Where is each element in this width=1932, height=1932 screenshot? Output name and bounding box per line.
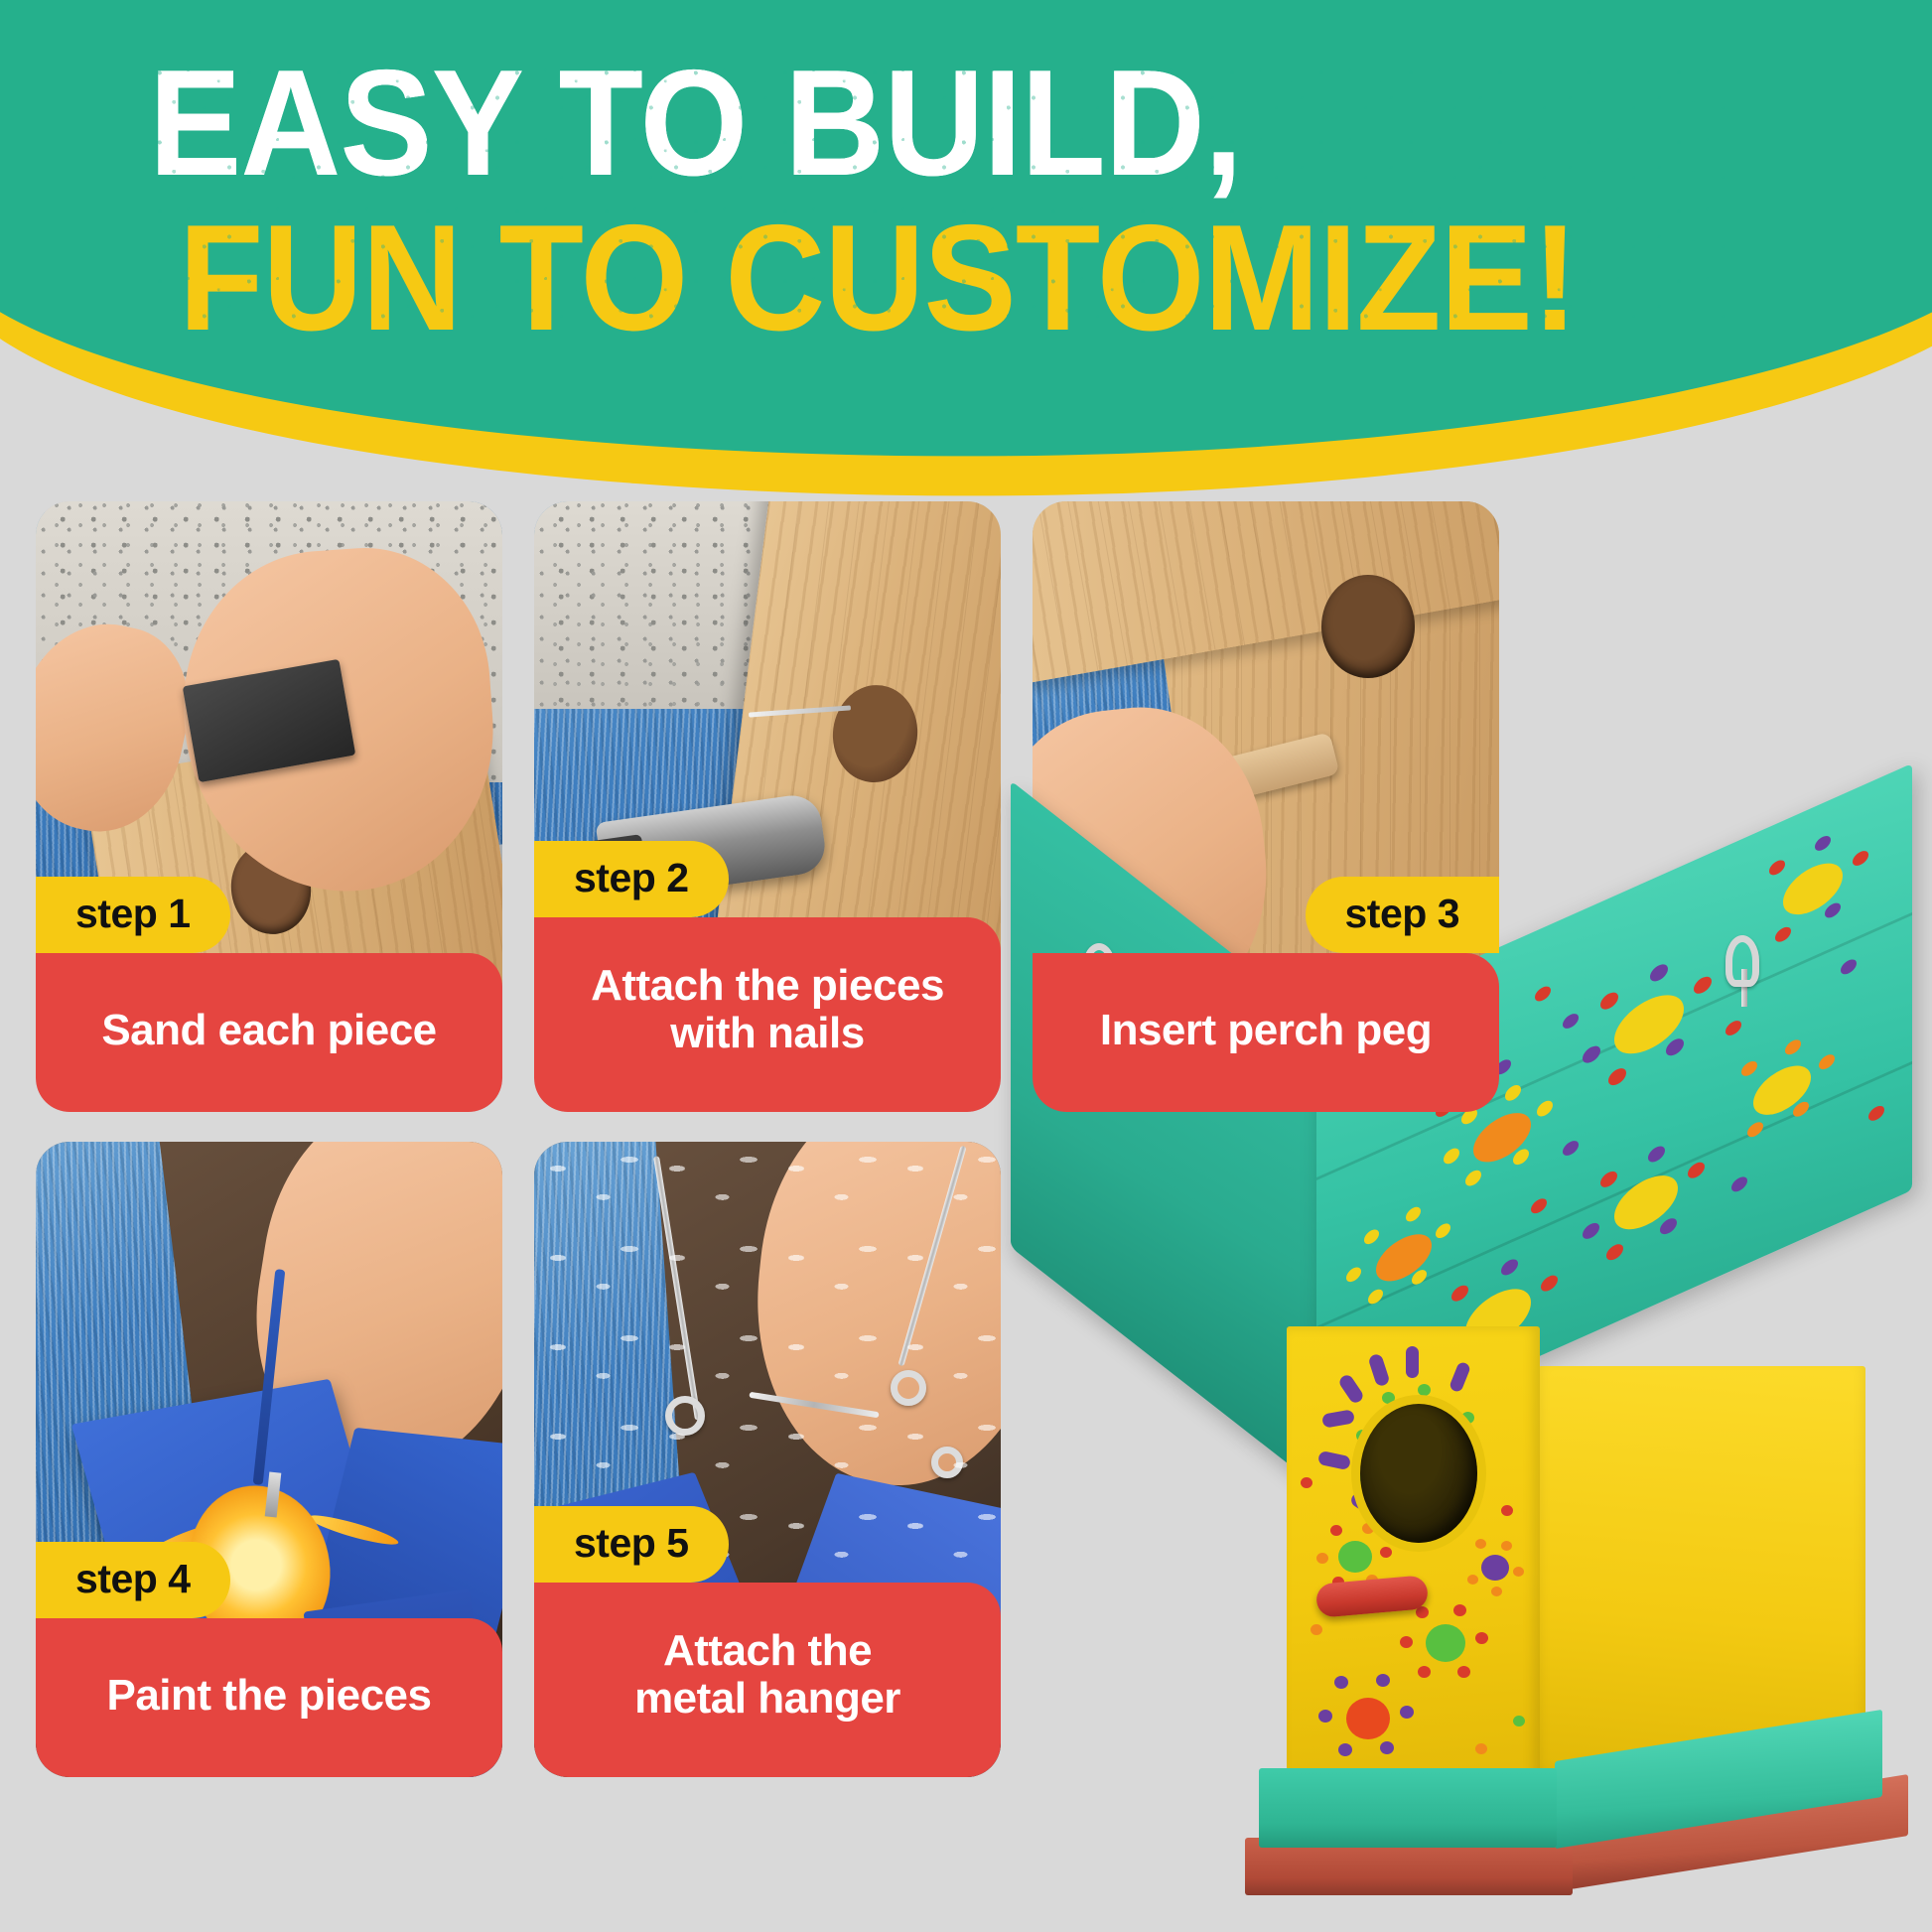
step-badge-1: step 1 [36,877,230,953]
step-caption-bar-3: Insert perch peg [1033,953,1499,1112]
dot-petal [1338,1743,1352,1756]
dot-petal [1747,1120,1763,1140]
dot-petal [1475,1539,1486,1549]
dot-petal [1380,1741,1394,1754]
dot-petal [1436,1221,1450,1241]
dot-petal [1600,1169,1617,1190]
dot-petal [1400,1706,1414,1719]
dot-petal [1362,1523,1374,1534]
dot-petal [1376,1674,1390,1687]
headline-line-2: FUN TO CUSTOMIZE! [179,212,1612,345]
dot-petal [1785,1037,1801,1057]
header-banner: EASY TO BUILD, FUN TO CUSTOMIZE! [0,0,1932,516]
sunburst-ray [1337,1373,1365,1406]
dot-petal [1606,1241,1623,1263]
step-badge-3: step 3 [1306,877,1500,953]
dot-petal [1334,1676,1348,1689]
dot-petal [1666,1035,1684,1058]
dot-petal [1853,848,1868,868]
dot-petal [1364,1227,1379,1247]
dot-petal [1537,1098,1553,1119]
dot-petal [1501,1257,1518,1279]
dot-petal [1444,1146,1459,1167]
hanging-hook-right-icon [1725,935,1759,987]
dot-petal [1513,1567,1524,1577]
scatter-dot [1501,1505,1513,1516]
headline-block: EASY TO BUILD, FUN TO CUSTOMIZE! [149,58,1737,345]
step-card-1[interactable]: Sand each piece step 1 [36,501,502,1112]
scatter-dot [1868,1103,1884,1123]
scatter-dot [1311,1624,1322,1635]
birdhouse-entry-hole [1360,1404,1477,1543]
scatter-dot [1563,1011,1579,1031]
dot-petal [1600,990,1618,1013]
dot-petal [1400,1636,1413,1648]
step-caption-bar-2: Attach the pieces with nails [534,917,1001,1112]
dot-petal [1418,1384,1431,1396]
dot-petal [1583,1220,1599,1242]
scatter-dot [1731,1174,1747,1194]
step-caption-bar-4: Paint the pieces [36,1618,502,1777]
dot-petal [1825,900,1841,920]
dot-petal [1583,1043,1600,1066]
dot-flower-center [1426,1624,1465,1662]
step-caption-1: Sand each piece [101,1007,436,1054]
step-badge-5: step 5 [534,1506,729,1583]
dot-petal [1741,1058,1757,1078]
dot-petal [1406,1204,1421,1224]
dot-flower-center [1346,1698,1390,1739]
scatter-dot [1475,1743,1487,1754]
dot-petal [1648,1144,1665,1166]
dot-petal [1475,1632,1488,1644]
step-card-2[interactable]: Attach the pieces with nails step 2 [534,501,1001,1112]
step-caption-2: Attach the pieces with nails [591,962,944,1056]
step-badge-2: step 2 [534,841,729,917]
dot-petal [1694,974,1712,997]
dot-petal [1501,1541,1512,1551]
sunburst-ray [1449,1361,1471,1394]
sunburst-ray [1406,1346,1419,1378]
dot-petal [1467,1575,1478,1585]
infographic-poster: EASY TO BUILD, FUN TO CUSTOMIZE! [0,0,1932,1932]
scatter-dot [1563,1138,1579,1158]
headline-line-1: EASY TO BUILD, [149,58,1610,191]
scatter-dot [1535,984,1551,1004]
step-badge-4: step 4 [36,1542,230,1618]
step-card-5[interactable]: Attach the metal hanger step 5 [534,1142,1001,1777]
dot-petal [1660,1215,1677,1237]
dot-petal [1318,1710,1332,1723]
dot-petal [1368,1287,1383,1307]
dot-petal [1382,1392,1395,1404]
dot-flower-center [1338,1541,1372,1573]
sunburst-ray [1321,1409,1355,1428]
step-card-3[interactable]: Insert perch peg step 3 [1033,501,1499,1112]
dot-petal [1451,1283,1468,1305]
dot-petal [1491,1587,1502,1596]
scatter-dot [1513,1716,1525,1726]
birdhouse-ledge-front [1259,1768,1557,1848]
dot-petal [1461,1412,1474,1424]
dot-petal [1541,1273,1558,1295]
dot-petal [1465,1168,1481,1188]
dot-petal [1330,1525,1342,1536]
dot-petal [1316,1553,1328,1564]
dot-flower-center [1481,1555,1509,1581]
dot-petal [1608,1065,1626,1088]
sunburst-ray [1317,1450,1351,1470]
dot-petal [1650,961,1668,984]
dot-petal [1819,1052,1835,1072]
entry-hole-shape [1321,575,1415,679]
step-caption-bar-1: Sand each piece [36,953,502,1112]
scatter-dot [1531,1196,1547,1216]
dot-petal [1418,1666,1431,1678]
dot-petal [1457,1666,1470,1678]
step-caption-bar-5: Attach the metal hanger [534,1583,1001,1777]
dot-petal [1769,858,1785,878]
dot-petal [1775,924,1791,944]
step-caption-4: Paint the pieces [106,1672,431,1720]
scatter-dot [1841,957,1857,977]
dot-petal [1453,1604,1466,1616]
dot-petal [1380,1547,1392,1558]
birdhouse-body-front [1287,1326,1540,1793]
dot-petal [1815,833,1831,853]
scatter-dot [1301,1477,1312,1488]
dot-petal [1346,1265,1361,1285]
sunburst-ray [1367,1353,1390,1388]
step-caption-3: Insert perch peg [1100,1007,1432,1054]
dot-petal [1505,1082,1521,1103]
scatter-dot [1725,1018,1741,1037]
step-card-4[interactable]: Paint the pieces step 4 [36,1142,502,1777]
step-caption-5: Attach the metal hanger [634,1627,900,1722]
